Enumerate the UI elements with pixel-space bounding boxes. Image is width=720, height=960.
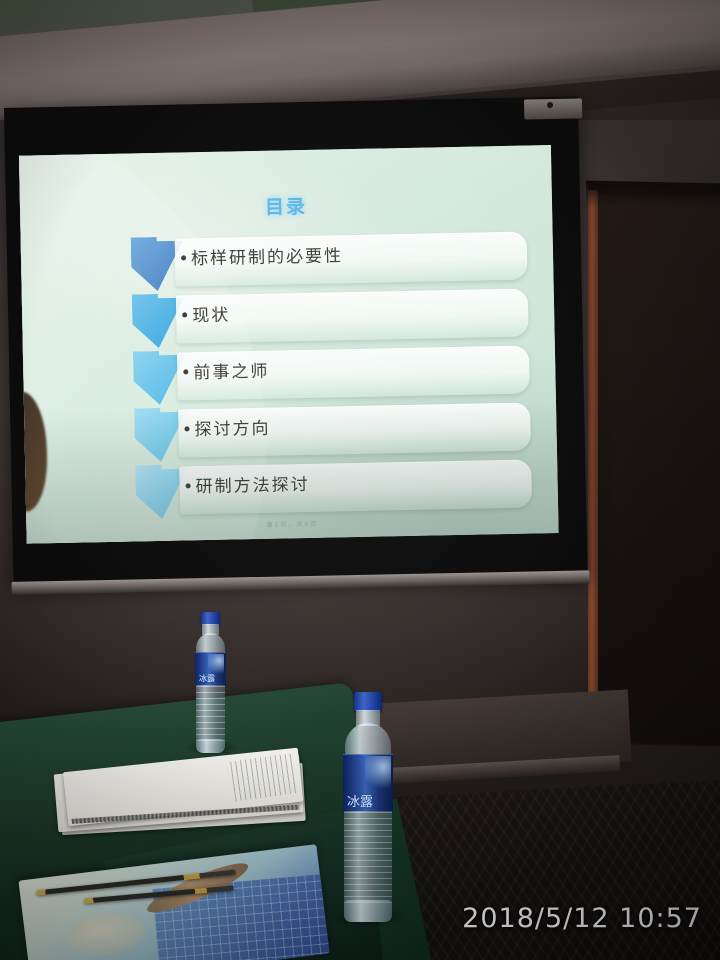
paper-handwriting <box>230 753 297 801</box>
bottle-ribs <box>196 685 225 741</box>
bottle-brand-swoosh-icon <box>365 756 391 792</box>
toc-item-label: 前事之师 <box>193 357 269 384</box>
toc-item-label: 研制方法探讨 <box>195 470 309 497</box>
bullet-icon <box>181 255 186 260</box>
bottle-ribs <box>344 811 392 903</box>
bottle-brand-text: 冰露 <box>347 791 373 810</box>
brochure-image-blob <box>63 910 147 959</box>
toc-item-label: 探讨方向 <box>194 414 270 441</box>
bottle-cap[interactable] <box>354 692 382 711</box>
toc-item-5[interactable]: 研制方法探讨 <box>135 457 536 522</box>
screen-projection-area: 目录 标样研制的必要性 现状 <box>19 145 559 544</box>
bottle-label: 冰露 <box>343 754 393 812</box>
slide-toc-list: 标样研制的必要性 现状 前事之师 <box>131 229 537 522</box>
screen-housing-screw-icon <box>547 102 553 108</box>
bottle-shoulder <box>345 723 391 757</box>
door-wooden-jamb <box>588 190 598 746</box>
door-top-shadow <box>586 181 720 210</box>
water-bottle-front[interactable]: 冰露 <box>337 692 399 924</box>
bottle-body <box>344 811 392 903</box>
toc-item-label: 标样研制的必要性 <box>191 241 343 269</box>
water-bottle-back[interactable]: 冰露 <box>189 612 233 754</box>
bullet-icon <box>183 369 188 374</box>
bullet-icon <box>182 312 187 317</box>
bottle-base <box>344 900 392 922</box>
screen-roller-housing <box>524 98 582 119</box>
toc-item-label: 现状 <box>192 301 230 327</box>
photograph-canvas: 目录 标样研制的必要性 现状 <box>0 0 720 960</box>
bullet-icon <box>186 483 191 488</box>
projection-screen[interactable]: 目录 标样研制的必要性 现状 <box>4 96 588 607</box>
bottle-brand-text: 冰露 <box>199 673 215 684</box>
doorway-interior <box>598 195 720 746</box>
bottle-body <box>196 685 225 741</box>
presentation-slide: 目录 标样研制的必要性 现状 <box>19 145 559 544</box>
toc-item-2[interactable]: 现状 <box>132 286 533 351</box>
toc-item-3[interactable]: 前事之师 <box>133 343 534 408</box>
bullet-icon <box>184 426 189 431</box>
camera-timestamp: 2018/5/12 10:57 <box>462 903 702 934</box>
bottle-label: 冰露 <box>195 652 226 686</box>
toc-item-4[interactable]: 探讨方向 <box>134 400 535 465</box>
bottle-base <box>196 739 225 753</box>
toc-item-1[interactable]: 标样研制的必要性 <box>131 229 532 294</box>
